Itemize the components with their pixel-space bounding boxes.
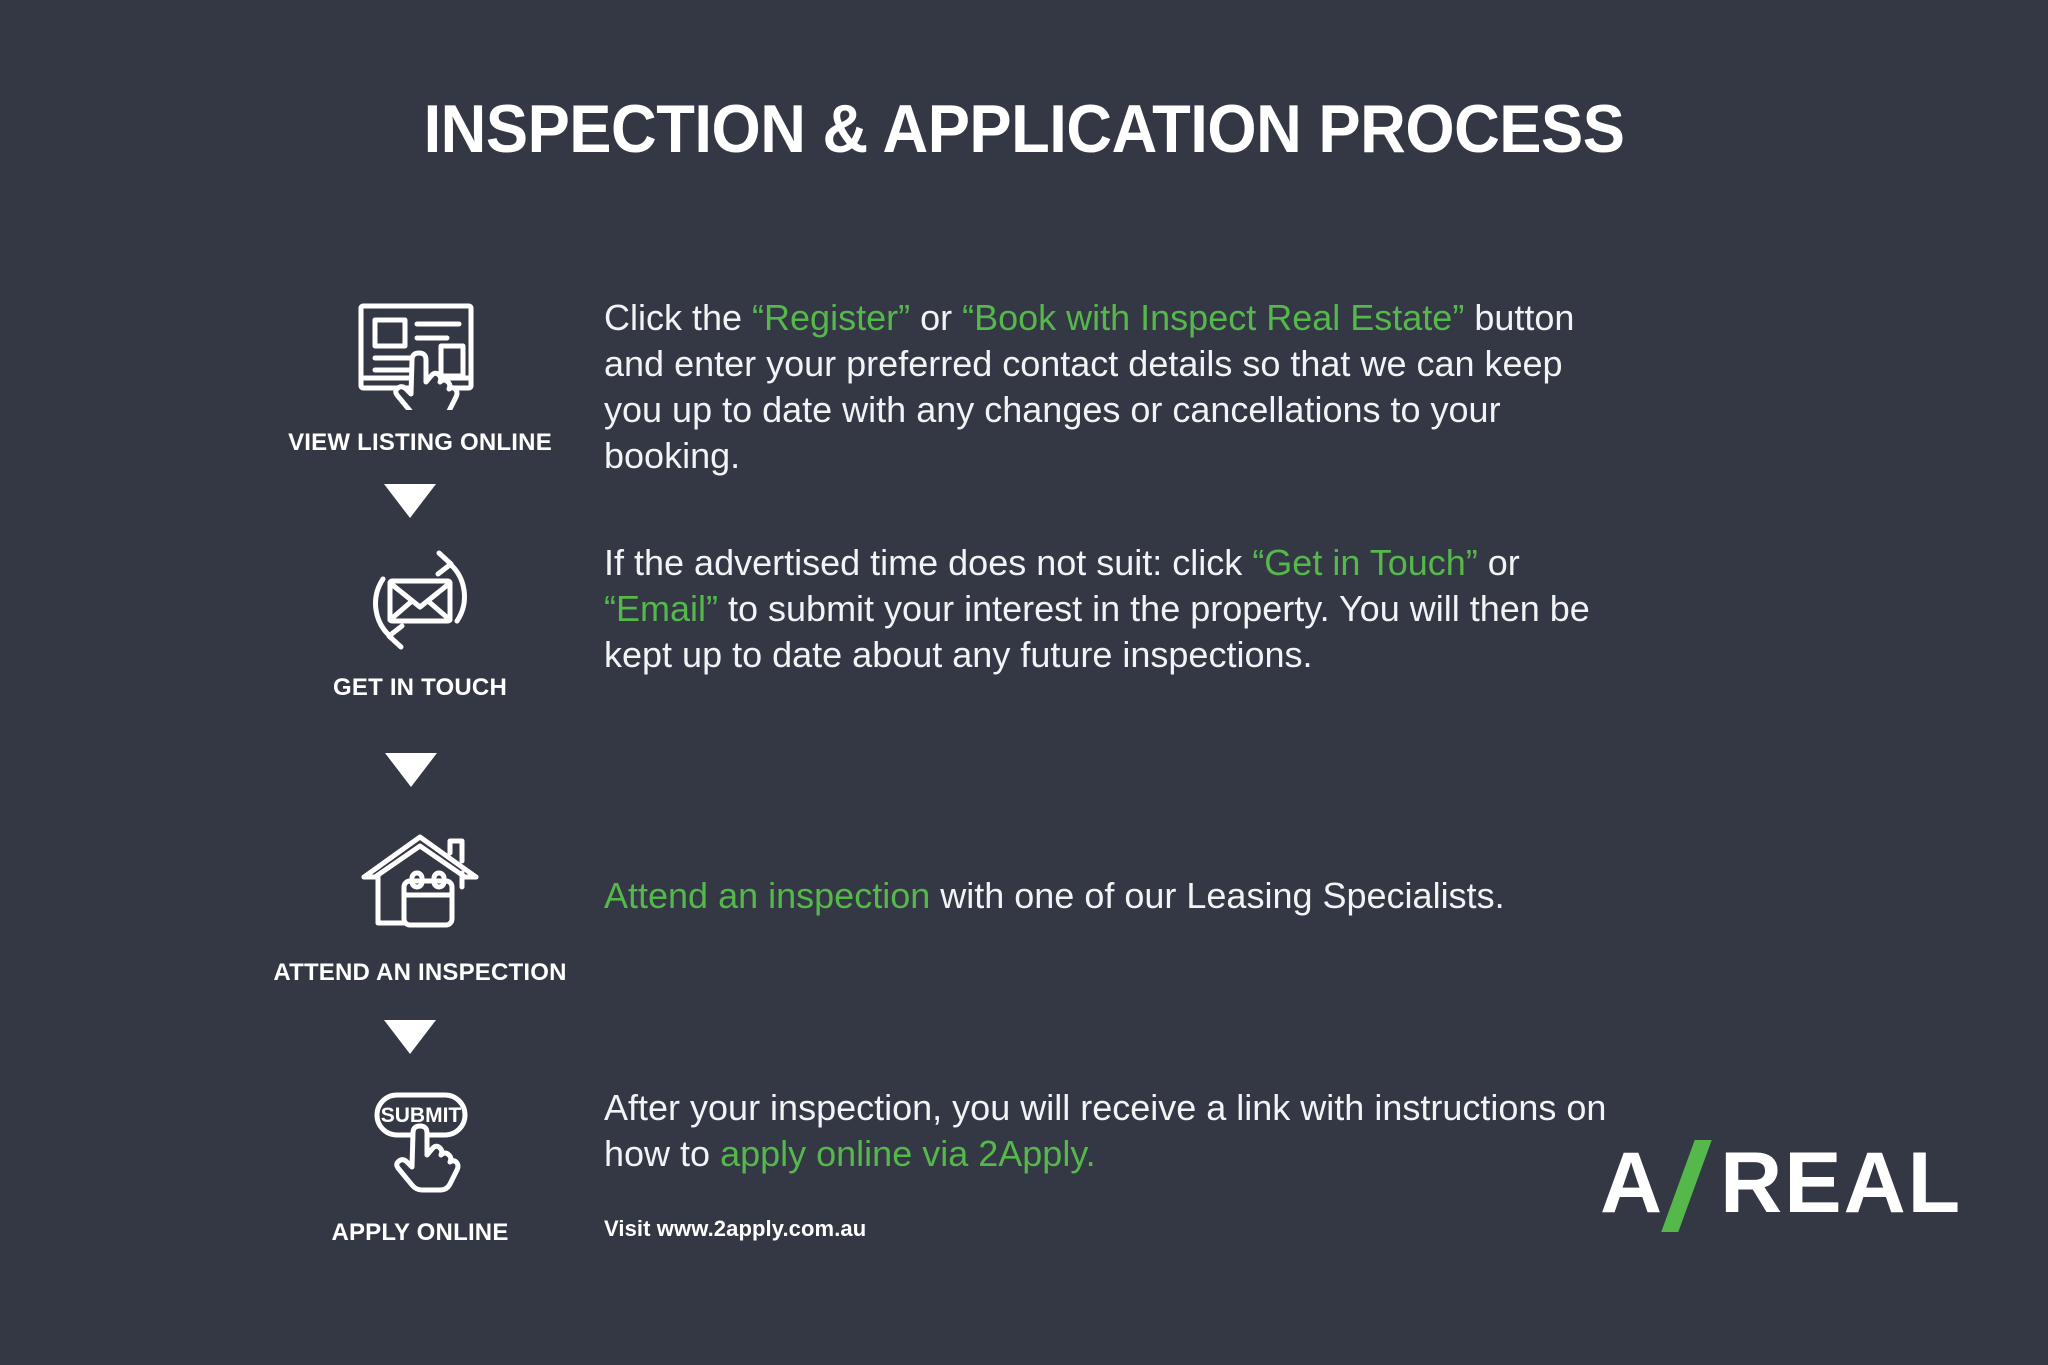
step-1-body-0: Click the (604, 297, 752, 338)
step-2-body-2: or (1478, 542, 1520, 583)
submit-button-pointer-icon: SUBMIT (270, 1085, 570, 1205)
step-2-text: If the advertised time does not suit: cl… (604, 540, 1614, 678)
step-1-label: VIEW LISTING ONLINE (270, 429, 570, 457)
step-3-icon-column: ATTEND AN INSPECTION (270, 825, 570, 987)
step-2-body-1: “Get in Touch” (1252, 542, 1477, 583)
step-1-icon-column: VIEW LISTING ONLINE (270, 295, 570, 457)
step-4-label: APPLY ONLINE (270, 1219, 570, 1247)
step-4-body-1: apply online via 2Apply. (720, 1133, 1096, 1174)
step-3-label: ATTEND AN INSPECTION (270, 959, 570, 987)
step-3-body-0: Attend an inspection (604, 875, 930, 916)
step-4-icon-column: SUBMIT APPLY ONLINE (270, 1085, 570, 1247)
step-2-body-4: to submit your interest in the property.… (604, 588, 1590, 675)
listing-page-with-pointer-icon (270, 295, 570, 415)
logo-green-slash-icon (1670, 1140, 1714, 1226)
logo-letter-a: A (1600, 1140, 1664, 1226)
step-3-text: Attend an inspection with one of our Lea… (604, 873, 1614, 919)
down-arrow-2 (385, 753, 437, 787)
infographic-page: INSPECTION & APPLICATION PROCESS VIEW LI… (0, 0, 2048, 1365)
step-1-body-3: “Book with Inspect Real Estate” (962, 297, 1464, 338)
down-arrow-1 (384, 484, 436, 518)
down-arrow-3 (384, 1020, 436, 1054)
step-4-text: After your inspection, you will receive … (604, 1085, 1614, 1243)
step-3-body-1: with one of our Leasing Specialists. (930, 875, 1504, 916)
step-attend-an-inspection: ATTEND AN INSPECTION Attend an inspectio… (0, 825, 2048, 871)
step-2-body-0: If the advertised time does not suit: cl… (604, 542, 1252, 583)
brand-logo: A REAL (1600, 1140, 1962, 1226)
house-calendar-icon (270, 825, 570, 945)
step-2-body-3: “Email” (604, 588, 718, 629)
envelope-refresh-icon (270, 540, 570, 660)
step-2-label: GET IN TOUCH (270, 674, 570, 702)
visit-url: Visit www.2apply.com.au (604, 1215, 1614, 1243)
step-2-icon-column: GET IN TOUCH (270, 540, 570, 702)
page-title: INSPECTION & APPLICATION PROCESS (72, 90, 1977, 168)
step-1-text: Click the “Register” or “Book with Inspe… (604, 295, 1614, 479)
logo-word-real: REAL (1720, 1140, 1962, 1226)
step-1-body-1: “Register” (752, 297, 910, 338)
step-1-body-2: or (910, 297, 962, 338)
